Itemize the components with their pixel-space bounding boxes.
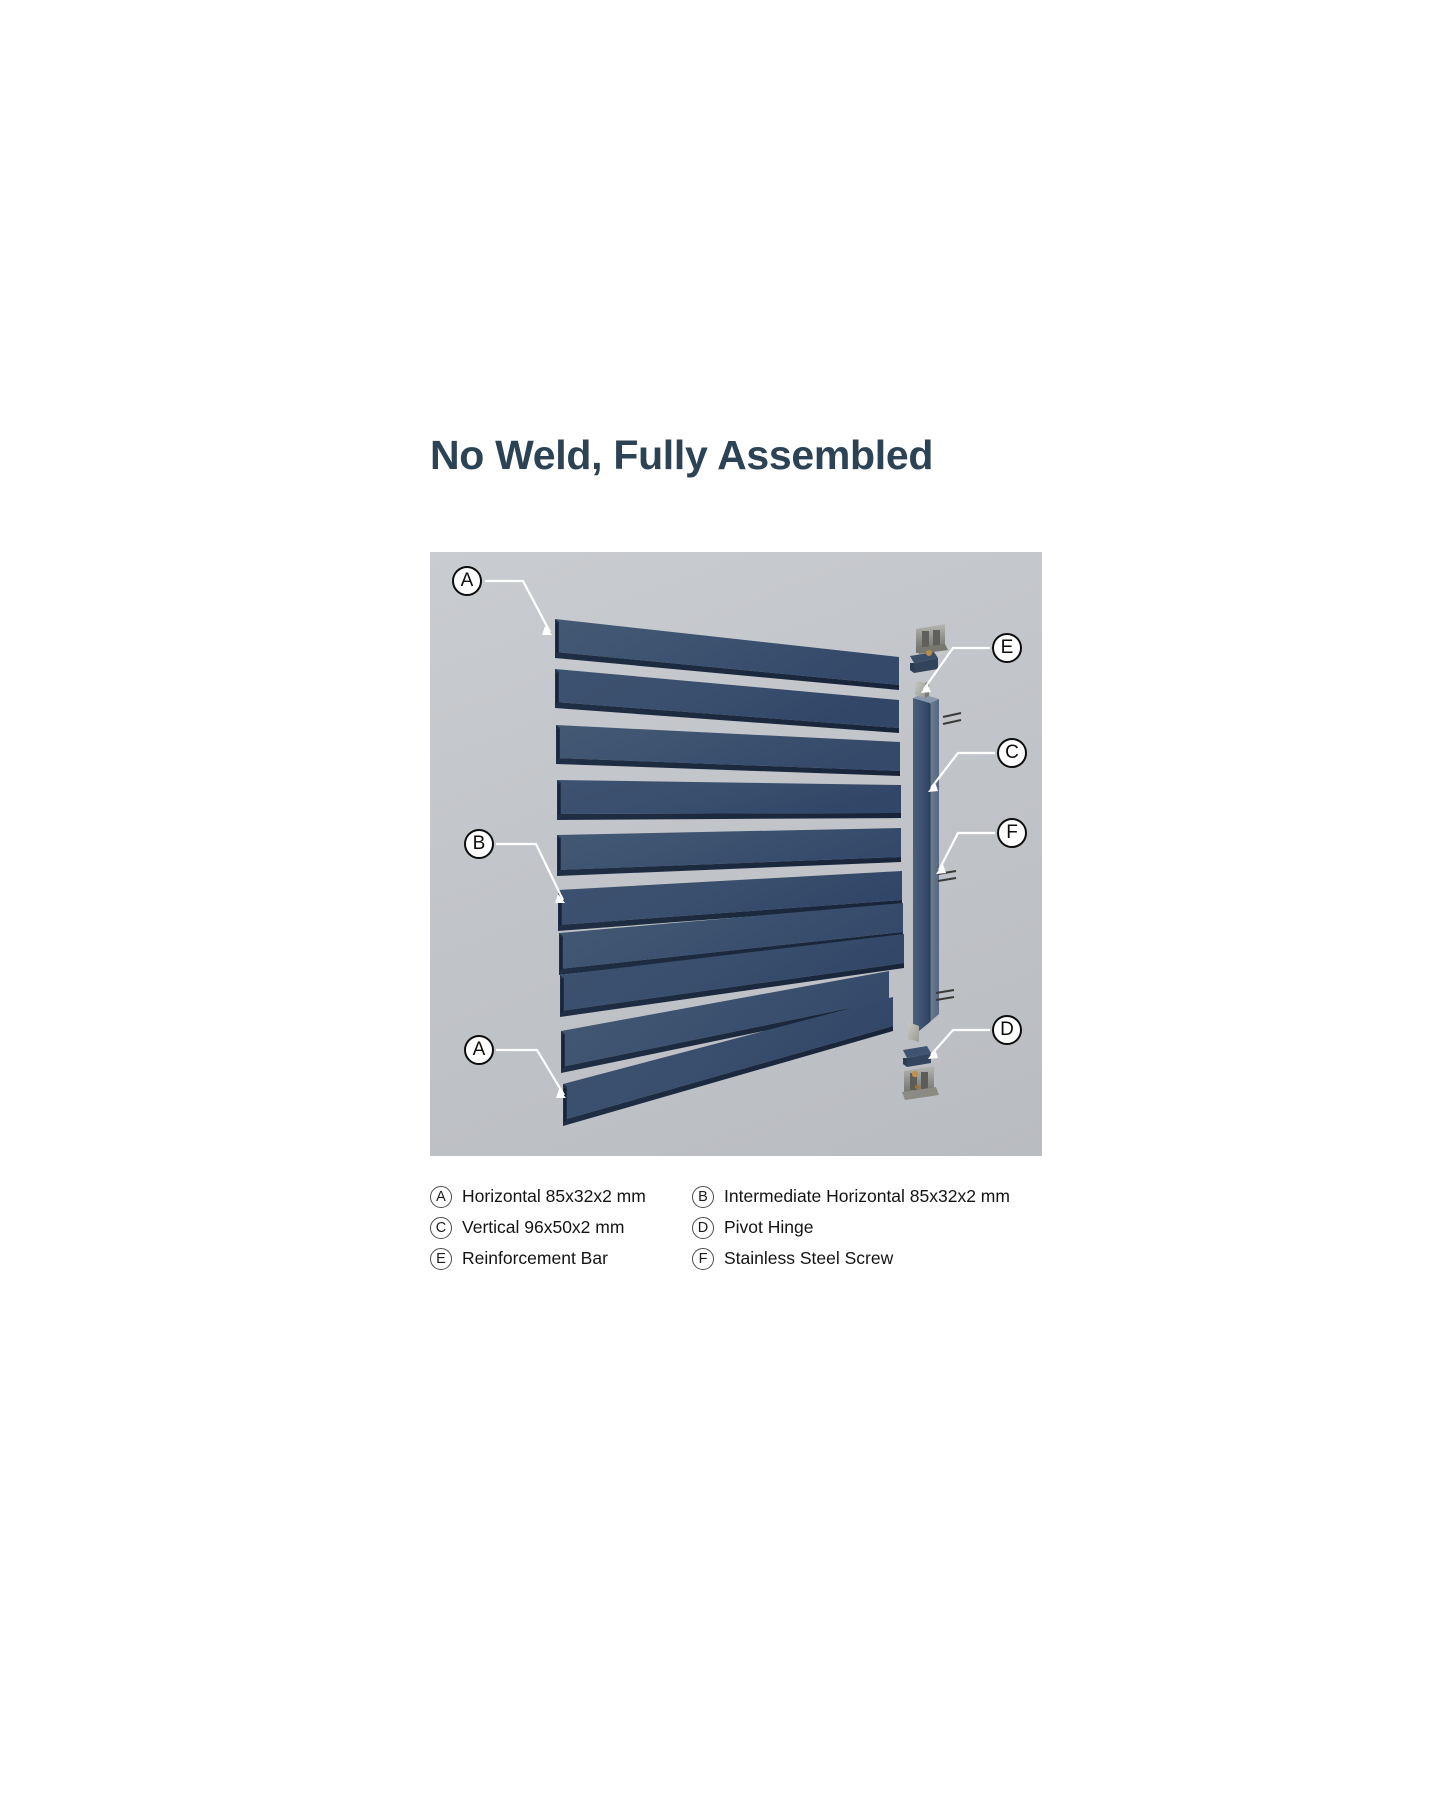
leader-c [931,753,995,788]
legend-row: E Reinforcement Bar F Stainless Steel Sc… [430,1243,1050,1274]
leader-a-bottom [496,1050,564,1095]
legend-item-c: C Vertical 96x50x2 mm [430,1212,692,1243]
legend-item-b: B Intermediate Horizontal 85x32x2 mm [692,1181,1042,1212]
legend-marker-e: E [430,1248,452,1270]
legend-marker-f: F [692,1248,714,1270]
legend-marker-d: D [692,1217,714,1239]
callout-marker-e[interactable]: E [992,633,1022,663]
leader-a-top [485,581,550,632]
callout-marker-c[interactable]: C [997,738,1027,768]
horizontal-slat-5 [557,828,901,876]
parts-legend: A Horizontal 85x32x2 mm B Intermediate H… [430,1181,1050,1274]
legend-item-f: F Stainless Steel Screw [692,1243,1042,1274]
legend-marker-a: A [430,1186,452,1208]
legend-marker-c: C [430,1217,452,1239]
legend-label-c: Vertical 96x50x2 mm [462,1217,624,1238]
legend-item-e: E Reinforcement Bar [430,1243,692,1274]
horizontal-slat-4 [557,780,901,820]
callout-marker-a-top[interactable]: A [452,566,482,596]
vertical-post [913,694,939,1036]
leader-d [931,1030,990,1055]
legend-row: A Horizontal 85x32x2 mm B Intermediate H… [430,1181,1050,1212]
legend-label-f: Stainless Steel Screw [724,1248,893,1269]
callout-marker-b[interactable]: B [464,829,494,859]
exploded-gate-illustration [430,552,1042,1156]
legend-label-e: Reinforcement Bar [462,1248,608,1269]
exploded-diagram-panel: A B A E C F D [430,552,1042,1156]
legend-label-b: Intermediate Horizontal 85x32x2 mm [724,1186,1010,1207]
leader-b [496,844,563,900]
hinge-bracket-top [910,624,948,673]
legend-item-d: D Pivot Hinge [692,1212,1042,1243]
legend-row: C Vertical 96x50x2 mm D Pivot Hinge [430,1212,1050,1243]
leader-f [939,833,995,870]
legend-label-a: Horizontal 85x32x2 mm [462,1186,646,1207]
legend-marker-b: B [692,1186,714,1208]
legend-label-d: Pivot Hinge [724,1217,814,1238]
callout-marker-d[interactable]: D [992,1015,1022,1045]
callout-marker-a-bottom[interactable]: A [464,1035,494,1065]
screw-group-top [943,713,961,724]
legend-item-a: A Horizontal 85x32x2 mm [430,1181,692,1212]
page-title: No Weld, Fully Assembled [430,432,933,479]
callout-marker-f[interactable]: F [997,818,1027,848]
horizontal-slat-3 [556,725,900,776]
